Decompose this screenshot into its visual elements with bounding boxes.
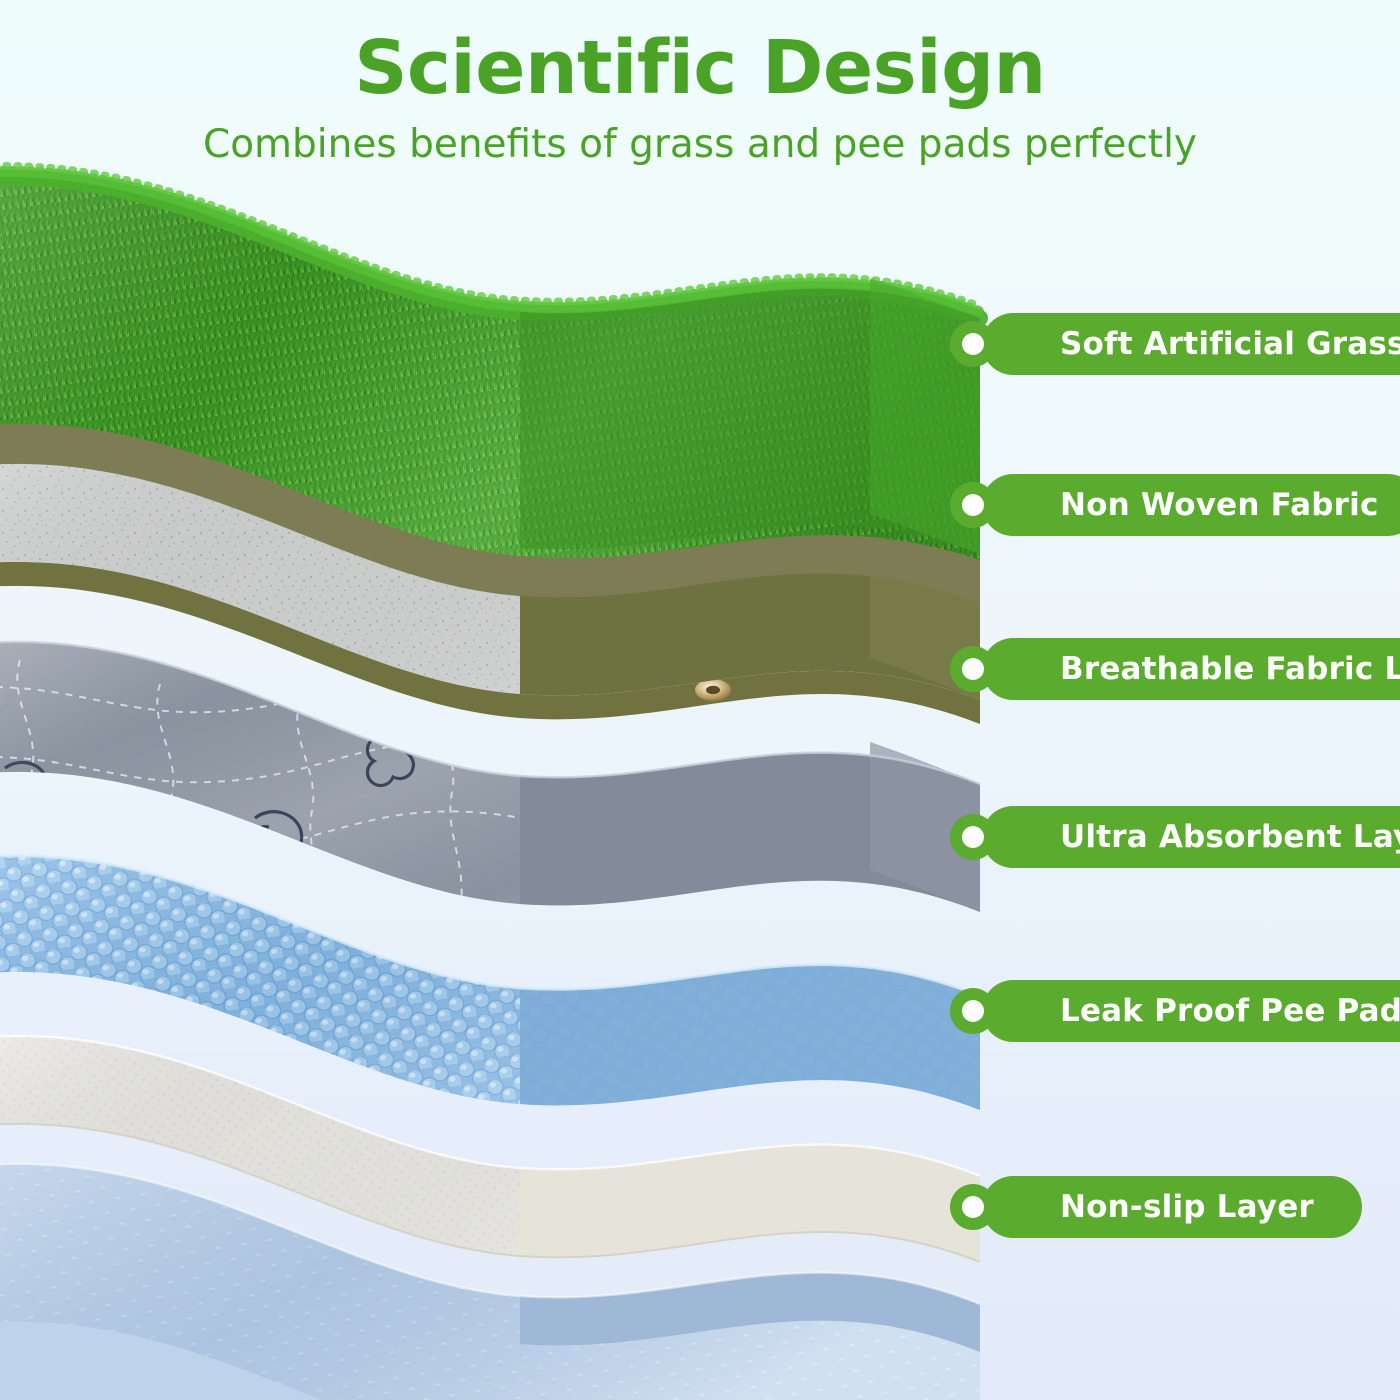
infographic-canvas: Scientific Design Combines benefits of g… (0, 0, 1400, 1400)
callout-pill[interactable]: Non Woven Fabric (982, 474, 1400, 536)
bullet-dot-icon (950, 482, 996, 528)
callout-label: Non Woven Fabric (1060, 487, 1379, 523)
bullet-dot-center (962, 826, 984, 848)
bullet-dot-center (962, 1196, 984, 1218)
bullet-dot-center (962, 1000, 984, 1022)
callout-list: Soft Artificial GrassNon Woven FabricBre… (0, 0, 1400, 1400)
callout-pill[interactable]: Ultra Absorbent Layer (982, 806, 1400, 868)
callout-pill[interactable]: Non-slip Layer (982, 1176, 1362, 1238)
callout-5[interactable]: Leak Proof Pee Pads (950, 980, 1400, 1042)
callout-1[interactable]: Soft Artificial Grass (950, 313, 1400, 375)
callout-label: Soft Artificial Grass (1060, 326, 1400, 362)
callout-label: Ultra Absorbent Layer (1060, 819, 1400, 855)
callout-3[interactable]: Breathable Fabric Layer (950, 638, 1400, 700)
bullet-dot-icon (950, 646, 996, 692)
callout-4[interactable]: Ultra Absorbent Layer (950, 806, 1400, 868)
callout-label: Breathable Fabric Layer (1060, 651, 1400, 687)
bullet-dot-icon (950, 321, 996, 367)
callout-pill[interactable]: Breathable Fabric Layer (982, 638, 1400, 700)
callout-2[interactable]: Non Woven Fabric (950, 474, 1400, 536)
bullet-dot-center (962, 333, 984, 355)
callout-6[interactable]: Non-slip Layer (950, 1176, 1400, 1238)
callout-label: Non-slip Layer (1060, 1189, 1314, 1225)
callout-pill[interactable]: Soft Artificial Grass (982, 313, 1400, 375)
bullet-dot-icon (950, 814, 996, 860)
callout-label: Leak Proof Pee Pads (1060, 993, 1400, 1029)
bullet-dot-center (962, 658, 984, 680)
bullet-dot-center (962, 494, 984, 516)
bullet-dot-icon (950, 988, 996, 1034)
bullet-dot-icon (950, 1184, 996, 1230)
callout-pill[interactable]: Leak Proof Pee Pads (982, 980, 1400, 1042)
